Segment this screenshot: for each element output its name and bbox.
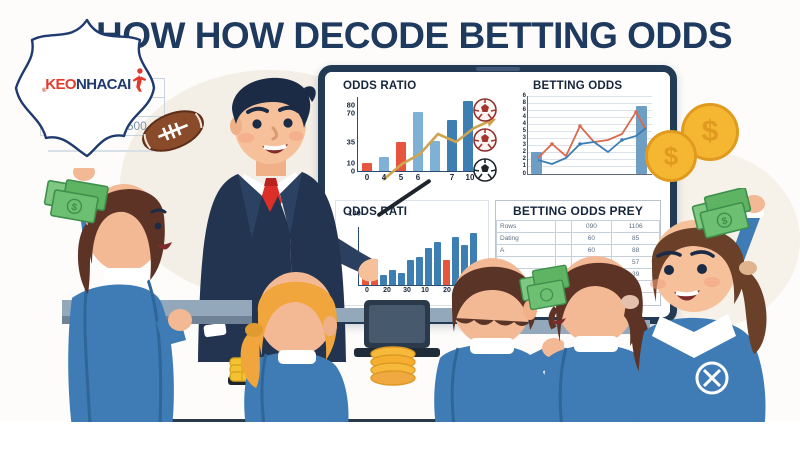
- bar: [398, 273, 405, 285]
- cash-bills-center: [518, 262, 584, 320]
- logo-text-part2: NHACAI: [76, 76, 131, 93]
- chart-title-betting-odds: BETTING ODDS: [533, 80, 622, 92]
- soccer-ball-red-1: [473, 98, 497, 122]
- board-notch: [476, 67, 520, 71]
- cell: 60: [571, 233, 612, 245]
- y-tick: 2: [523, 156, 526, 162]
- x-tick: 20: [383, 287, 391, 294]
- logo-registered-mark: ®: [42, 88, 46, 94]
- cell: [555, 233, 571, 245]
- gold-coin-small: $: [645, 130, 697, 182]
- y-tick: 6: [523, 107, 526, 113]
- soccer-ball-classic: [473, 158, 497, 182]
- cell: Dating: [497, 233, 556, 245]
- soccer-ball-red-2: [473, 128, 497, 152]
- coin-symbol: $: [648, 133, 694, 179]
- brand-logo[interactable]: KEONHACAI ®: [2, 14, 172, 164]
- chart-betting-odds-line: BETTING ODDS 0 1 2 2: [507, 80, 659, 192]
- y-tick: 3: [523, 142, 526, 148]
- chart-plot-area: 0 1 2 2 3 3 5 4 4 6 8 6: [527, 96, 652, 175]
- y-tick: 0: [523, 171, 526, 177]
- bar: [380, 275, 387, 285]
- bar: [389, 270, 396, 285]
- soccer-ball-group: [473, 98, 507, 184]
- page-title: HOW HOW DECODE BETTING ODDS: [96, 14, 756, 58]
- cash-bills-right: $: [690, 188, 768, 248]
- x-tick: 4: [382, 173, 386, 182]
- x-tick: 7: [450, 173, 454, 182]
- y-tick: 2: [523, 149, 526, 155]
- y-tick: 4: [523, 121, 526, 127]
- red-line: [538, 112, 646, 158]
- student-blonde-ponytail: [232, 268, 362, 428]
- x-tick: 6: [416, 173, 420, 182]
- y-tick: 4: [523, 114, 526, 120]
- x-tick: 5: [399, 173, 403, 182]
- cash-bills-left: $: [38, 178, 118, 240]
- cell: [555, 221, 571, 233]
- coin-stack-orange: [364, 346, 422, 390]
- x-tick: 30: [403, 287, 411, 294]
- cell: 090: [571, 221, 612, 233]
- y-tick: 6: [523, 93, 526, 99]
- infographic-canvas: HOW HOW DECODE BETTING ODDS 5 25 26p 672…: [0, 0, 800, 450]
- y-tick: 1: [523, 163, 526, 169]
- y-tick: 5: [523, 128, 526, 134]
- logo-text-part1: KEO: [45, 76, 76, 93]
- cell: Rows: [497, 221, 556, 233]
- y-tick: 8: [523, 100, 526, 106]
- bar: [407, 260, 414, 285]
- bar: [416, 257, 423, 285]
- y-tick: 3: [523, 135, 526, 141]
- bottom-margin: [0, 422, 800, 450]
- line-series-group: [528, 96, 652, 174]
- running-man-icon: [130, 67, 148, 93]
